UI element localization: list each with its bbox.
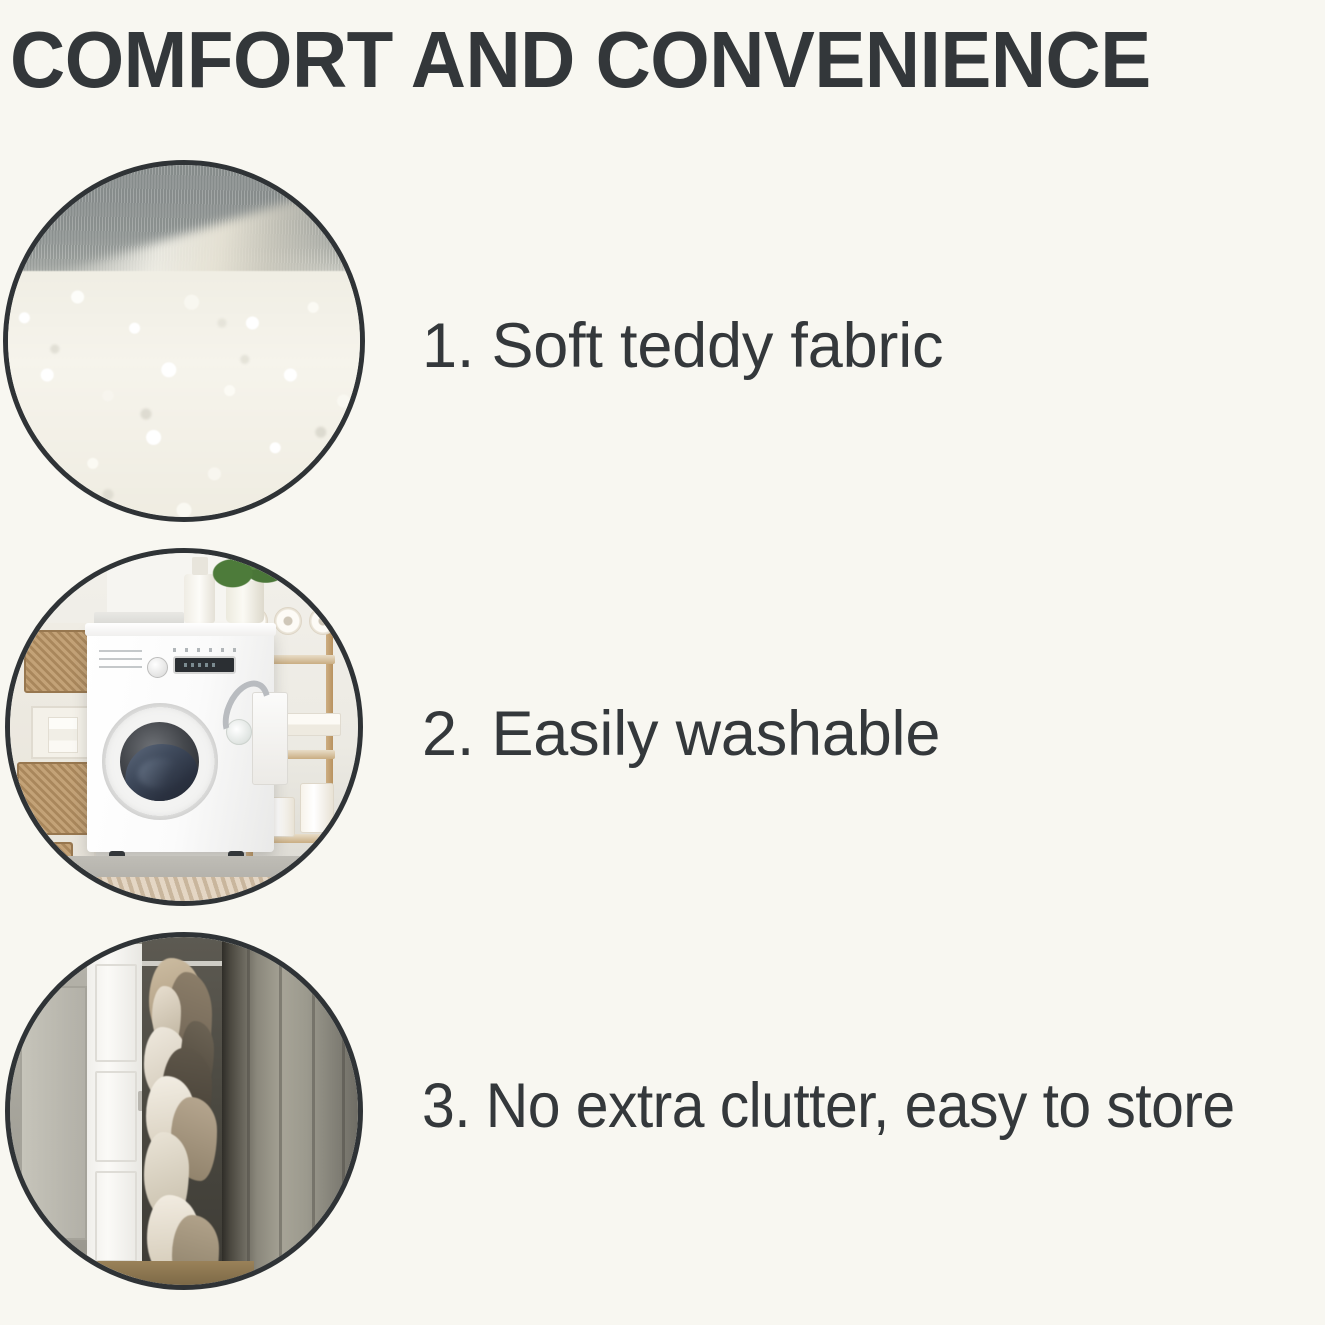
- curtain-fold: [279, 937, 282, 1285]
- teddy-pile-texture: [8, 271, 360, 517]
- page-title: COMFORT AND CONVENIENCE: [10, 12, 1252, 108]
- folded-linens: [48, 717, 78, 754]
- infographic-page: COMFORT AND CONVENIENCE 1. Soft teddy fa…: [0, 0, 1325, 1325]
- teddy-fabric-photo: [3, 160, 365, 522]
- feature-label-3: 3. No extra clutter, easy to store: [422, 1072, 1235, 1140]
- wicker-basket: [17, 762, 94, 836]
- hose-holder: [252, 692, 289, 784]
- rolled-towel: [309, 607, 337, 635]
- washing-machine-photo: [5, 548, 363, 906]
- cluttered-closet-photo: [5, 932, 363, 1290]
- paper-towel-roll: [300, 783, 333, 834]
- closet-scene: [10, 937, 358, 1285]
- feature-row-2: 2. Easily washable: [0, 548, 1325, 914]
- dark-curtain: [222, 937, 358, 1285]
- potted-plant-leaves: [212, 553, 282, 588]
- washer-top-surface: [85, 623, 277, 636]
- washer-control-panel: [92, 645, 269, 685]
- washer-program-labels: [99, 650, 141, 669]
- washer-display: [173, 656, 235, 674]
- floor-mat: [24, 877, 316, 901]
- wardrobe-panel: [95, 1171, 138, 1262]
- curtain-fold: [312, 937, 315, 1285]
- room-door: [20, 986, 87, 1241]
- feature-row-3: 3. No extra clutter, easy to store: [0, 932, 1325, 1298]
- closet-image: [10, 937, 358, 1285]
- laundry-room-scene: [10, 553, 358, 901]
- feature-row-1: 1. Soft teddy fabric: [0, 160, 1325, 530]
- ladder-rail: [326, 595, 333, 894]
- feature-label-2: 2. Easily washable: [422, 700, 940, 768]
- feature-label-1: 1. Soft teddy fabric: [422, 312, 943, 380]
- washer-button-row: [173, 648, 237, 653]
- soap-dispenser: [184, 574, 215, 623]
- wardrobe-panel: [95, 1071, 138, 1162]
- curtain-fold: [247, 937, 250, 1285]
- curtain-fold: [342, 937, 345, 1285]
- laundry-inside-drum: [122, 740, 199, 801]
- teddy-fabric-image: [8, 165, 360, 517]
- wood-floor: [94, 1261, 254, 1285]
- wardrobe-panel: [95, 964, 138, 1062]
- closet-opening: [142, 937, 226, 1285]
- laundry-room-image: [10, 553, 358, 901]
- wicker-basket: [24, 630, 94, 693]
- wardrobe-door: [87, 944, 149, 1278]
- washer-program-knob: [147, 657, 168, 678]
- washer-door: [102, 703, 219, 820]
- spilling-clothes-pile: [142, 937, 226, 1285]
- washer-door-glass: [120, 722, 199, 801]
